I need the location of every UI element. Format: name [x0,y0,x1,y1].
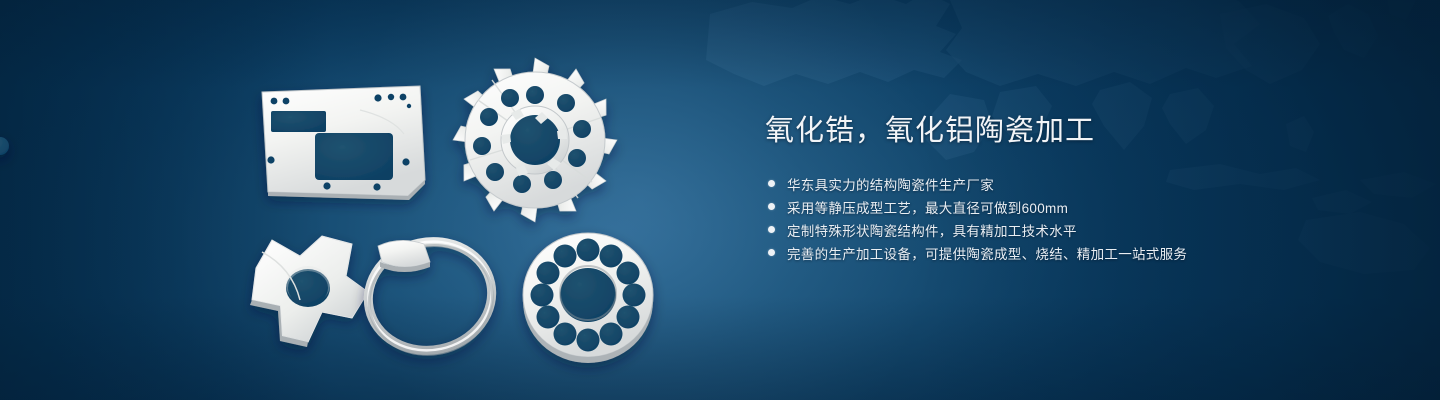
list-item: 定制特殊形状陶瓷结构件，具有精加工技术水平 [765,218,1187,241]
banner-text-column: 氧化锆，氧化铝陶瓷加工 华东具实力的结构陶瓷件生产厂家 采用等静压成型工艺，最大… [765,0,1385,400]
bullet-dot-icon [768,226,775,233]
product-photo-group [0,0,720,400]
bullet-dot-icon [768,180,775,187]
list-item: 采用等静压成型工艺，最大直径可做到600mm [765,195,1187,218]
ceramic-cross-part [250,236,368,347]
feature-text: 采用等静压成型工艺，最大直径可做到600mm [787,197,1068,217]
feature-text: 定制特殊形状陶瓷结构件，具有精加工技术水平 [787,220,1077,240]
feature-list: 华东具实力的结构陶瓷件生产厂家 采用等静压成型工艺，最大直径可做到600mm 定… [765,172,1187,264]
list-item: 华东具实力的结构陶瓷件生产厂家 [765,172,1187,195]
ceramic-ring [358,230,503,365]
bullet-dot-icon [768,249,775,256]
page-title: 氧化锆，氧化铝陶瓷加工 [765,112,1095,150]
promo-banner: 氧化锆，氧化铝陶瓷加工 华东具实力的结构陶瓷件生产厂家 采用等静压成型工艺，最大… [0,0,1440,400]
ceramic-mounting-plate [262,86,425,200]
feature-text: 完善的生产加工设备，可提供陶瓷成型、烧结、精加工一站式服务 [787,243,1187,263]
feature-text: 华东具实力的结构陶瓷件生产厂家 [787,174,994,194]
bullet-dot-icon [768,203,775,210]
ceramic-perforated-disc [523,233,653,363]
list-item: 完善的生产加工设备，可提供陶瓷成型、烧结、精加工一站式服务 [765,241,1187,264]
